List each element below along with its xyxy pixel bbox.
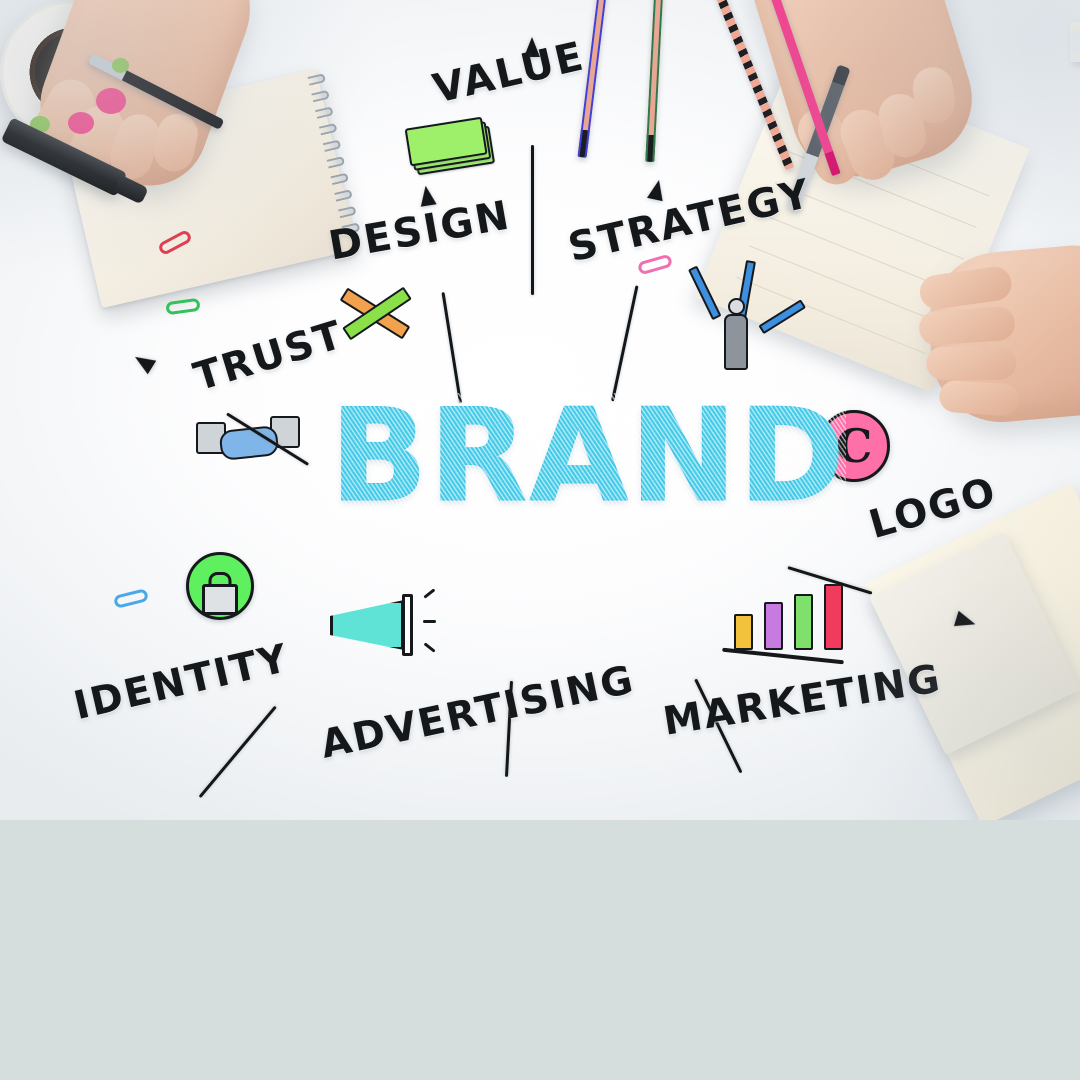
caption-bar: The Impact of Marketing: The Importance …: [0, 820, 1080, 1080]
keyword-marketing: MARKETING: [660, 656, 945, 744]
pencil-ruler-icon: [336, 276, 416, 352]
megaphone-icon: [330, 586, 436, 664]
arrow-to-identity: [182, 702, 282, 817]
strategy-figure-body: [724, 314, 748, 370]
chart-baseline: [722, 648, 844, 664]
arrow-to-value: [524, 126, 540, 295]
paperclip-green: [165, 298, 200, 316]
poster: BRAND VALUE STRATEGY DESIGN TRUST LOGO I…: [0, 0, 1080, 1080]
money-icon: [404, 114, 495, 180]
pencil-green: [645, 0, 663, 162]
keyword-advertising: ADVERTISING: [317, 657, 639, 767]
brand-center-word: BRAND: [330, 393, 846, 521]
strategy-icon: [690, 262, 786, 374]
keyword-value: VALUE: [429, 33, 589, 112]
brand-concept-photo: BRAND VALUE STRATEGY DESIGN TRUST LOGO I…: [0, 0, 1080, 820]
strategy-figure-head: [728, 298, 745, 315]
lock-icon: [186, 552, 254, 620]
bar-chart-icon: [726, 580, 848, 660]
keyword-trust: TRUST: [189, 313, 349, 401]
paperclip-blue: [113, 588, 149, 609]
cup-handle: [1070, 22, 1080, 62]
